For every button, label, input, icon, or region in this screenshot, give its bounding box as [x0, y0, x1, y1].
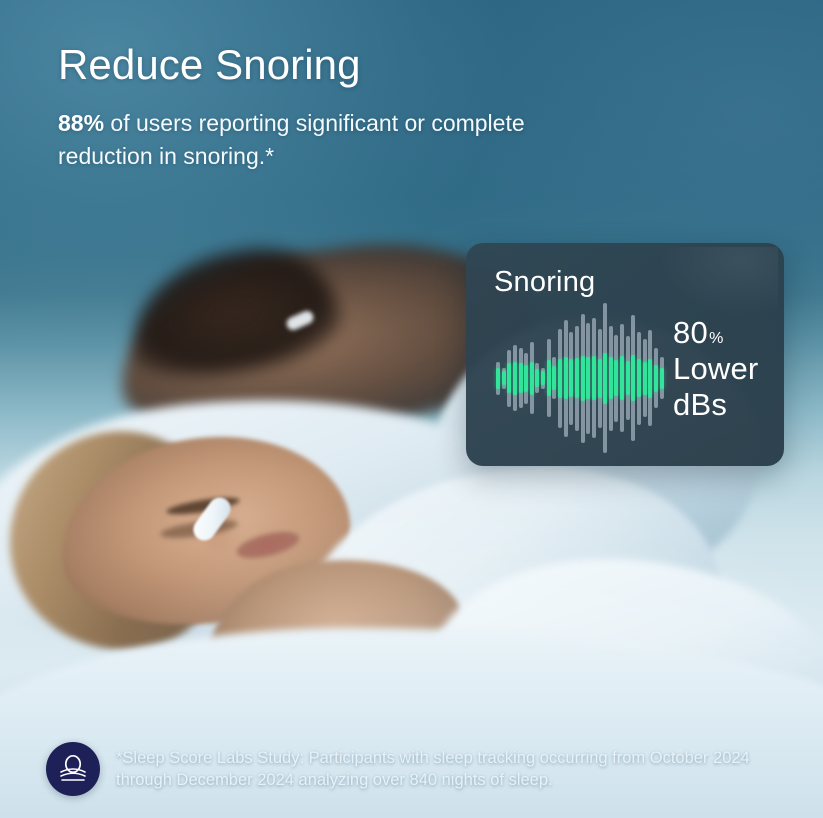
waveform-bar: [524, 353, 528, 404]
waveform-bar-active: [575, 358, 579, 399]
waveform-bar: [569, 332, 573, 425]
waveform-bar: [575, 326, 579, 431]
waveform-bar-active: [643, 362, 647, 395]
snoring-card[interactable]: Snoring 80 % Lower dBs: [466, 243, 784, 466]
waveform-bar: [586, 323, 590, 434]
metric-label-line-2: dBs: [673, 387, 758, 423]
waveform-bar: [660, 357, 664, 399]
stat-percentage: 88%: [58, 110, 104, 136]
waveform-bar: [535, 363, 539, 393]
waveform-bar: [648, 330, 652, 426]
waveform-bar-active: [592, 356, 596, 400]
waveform-bar: [620, 324, 624, 432]
waveform-bar: [558, 329, 562, 428]
waveform-bar: [609, 326, 613, 431]
waveform-bar-active: [547, 360, 551, 396]
waveform-bar: [530, 342, 534, 414]
waveform-bar-active: [620, 356, 624, 400]
subheadline: 88% of users reporting significant or co…: [58, 107, 558, 172]
waveform-bar-active: [654, 365, 658, 392]
waveform-bar: [614, 335, 618, 422]
waveform-bar-active: [558, 359, 562, 398]
metric-unit: %: [709, 330, 723, 349]
waveform-bar: [643, 339, 647, 417]
waveform-bar-active: [552, 366, 556, 390]
waveform-bar-active: [614, 360, 618, 396]
waveform-bar-active: [513, 362, 517, 395]
waveform-bar: [552, 357, 556, 399]
waveform-bar-active: [586, 357, 590, 399]
waveform-bar: [603, 303, 607, 453]
waveform-bar: [631, 315, 635, 441]
waveform-bar-active: [609, 357, 613, 399]
snoring-metric: 80 % Lower dBs: [673, 315, 758, 423]
waveform-bar-active: [530, 362, 534, 395]
waveform-bar: [654, 348, 658, 408]
waveform-bar-active: [598, 359, 602, 398]
waveform-bar-active: [535, 369, 539, 387]
waveform-bar-active: [502, 371, 506, 385]
waveform-bar-active: [524, 365, 528, 392]
waveform-bar: [547, 339, 551, 417]
waveform-bar: [592, 318, 596, 438]
metric-number: 80: [673, 315, 708, 351]
waveform-bar: [581, 314, 585, 443]
waveform-bar-active: [626, 361, 630, 396]
footer: *Sleep Score Labs Study: Participants wi…: [46, 742, 803, 796]
waveform-bar-active: [631, 355, 635, 402]
waveform-bar-active: [637, 359, 641, 397]
waveform-bar-active: [541, 371, 545, 385]
waveform-bar-active: [660, 368, 664, 389]
card-sheen: [658, 247, 778, 317]
waveform-bar: [496, 362, 500, 395]
snoring-waveform-chart: [496, 303, 664, 453]
page-title: Reduce Snoring: [58, 42, 698, 87]
waveform-bar-active: [564, 357, 568, 399]
waveform-bar: [598, 329, 602, 428]
waveform-bar: [541, 368, 545, 389]
waveform-bar: [637, 332, 641, 425]
waveform-bar-active: [569, 359, 573, 397]
waveform-bar: [564, 320, 568, 437]
waveform-bar-active: [648, 359, 652, 398]
study-disclaimer: *Sleep Score Labs Study: Participants wi…: [116, 747, 803, 791]
metric-label-line-1: Lower: [673, 351, 758, 387]
waveform-bar: [519, 348, 523, 408]
waveform-bar-active: [603, 353, 607, 404]
subheadline-text: of users reporting significant or comple…: [58, 110, 525, 169]
waveform-bar-active: [507, 363, 511, 393]
waveform-bar: [507, 350, 511, 407]
snoring-card-title: Snoring: [494, 266, 595, 299]
waveform-bar-active: [581, 356, 585, 401]
headline-block: Reduce Snoring 88% of users reporting si…: [58, 42, 698, 173]
sleepscore-logo-icon: [46, 742, 100, 796]
waveform-bar: [626, 336, 630, 420]
waveform-bar: [502, 368, 506, 389]
promo-image: Reduce Snoring 88% of users reporting si…: [0, 0, 823, 818]
metric-value-row: 80 %: [673, 315, 758, 351]
waveform-bar-active: [519, 363, 523, 393]
waveform-bar: [513, 345, 517, 411]
waveform-bar-active: [496, 368, 500, 389]
